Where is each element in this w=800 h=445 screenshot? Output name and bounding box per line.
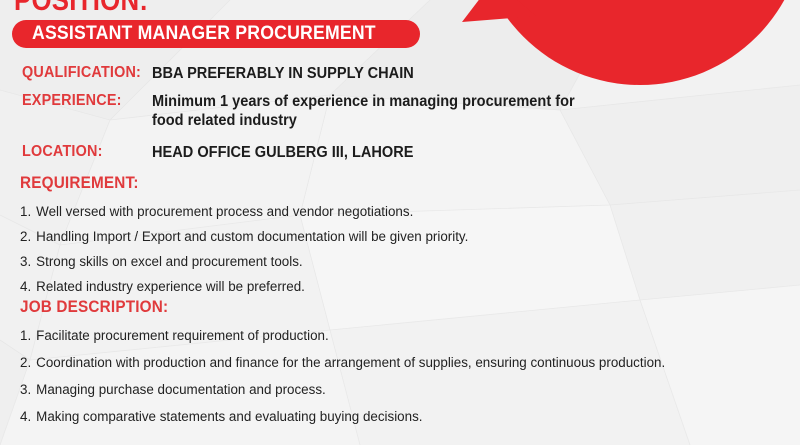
list-item-text: Related industry experience will be pref… [36,277,760,297]
requirement-list: 1. Well versed with procurement process … [20,202,760,302]
position-heading: POSITION: [14,0,148,18]
info-row-experience: EXPERIENCE: Minimum 1 years of experienc… [22,92,602,130]
qualification-value: BBA PREFERABLY IN SUPPLY CHAIN [152,64,414,83]
list-item-text: Well versed with procurement process and… [36,202,760,222]
list-item-number: 4. [20,277,31,297]
list-item: 4. Related industry experience will be p… [20,277,760,297]
location-label: LOCATION: [22,143,139,161]
list-item-number: 2. [20,227,31,247]
list-item-number: 4. [20,407,31,427]
list-item-text: Facilitate procurement requirement of pr… [36,326,760,346]
job-title-pill: ASSISTANT MANAGER PROCUREMENT [12,20,420,48]
list-item: 4. Making comparative statements and eva… [20,407,760,427]
list-item: 3. Strong skills on excel and procuremen… [20,252,760,272]
list-item: 3. Managing purchase documentation and p… [20,380,760,400]
requirement-heading: REQUIREMENT: [20,173,139,193]
list-item: 2. Handling Import / Export and custom d… [20,227,760,247]
list-item-text: Handling Import / Export and custom docu… [36,227,760,247]
job-description-list: 1. Facilitate procurement requirement of… [20,326,760,434]
info-row-location: LOCATION: HEAD OFFICE GULBERG III, LAHOR… [22,143,430,162]
list-item: 1. Facilitate procurement requirement of… [20,326,760,346]
list-item-text: Managing purchase documentation and proc… [36,380,760,400]
list-item-number: 1. [20,326,31,346]
list-item: 2. Coordination with production and fina… [20,353,760,373]
list-item-text: Strong skills on excel and procurement t… [36,252,760,272]
list-item-number: 1. [20,202,31,222]
list-item-number: 3. [20,252,31,272]
job-title-text: ASSISTANT MANAGER PROCUREMENT [32,23,376,45]
qualification-label: QUALIFICATION: [22,64,139,82]
experience-value: Minimum 1 years of experience in managin… [152,92,575,130]
list-item-number: 3. [20,380,31,400]
info-row-qualification: QUALIFICATION: BBA PREFERABLY IN SUPPLY … [22,64,431,83]
list-item-text: Coordination with production and finance… [36,353,760,373]
experience-label: EXPERIENCE: [22,92,139,110]
list-item-text: Making comparative statements and evalua… [36,407,760,427]
job-posting-poster: POSITION: ASSISTANT MANAGER PROCUREMENT … [0,0,800,445]
location-value: HEAD OFFICE GULBERG III, LAHORE [152,143,413,162]
job-description-heading: JOB DESCRIPTION: [20,297,168,317]
list-item-number: 2. [20,353,31,373]
list-item: 1. Well versed with procurement process … [20,202,760,222]
